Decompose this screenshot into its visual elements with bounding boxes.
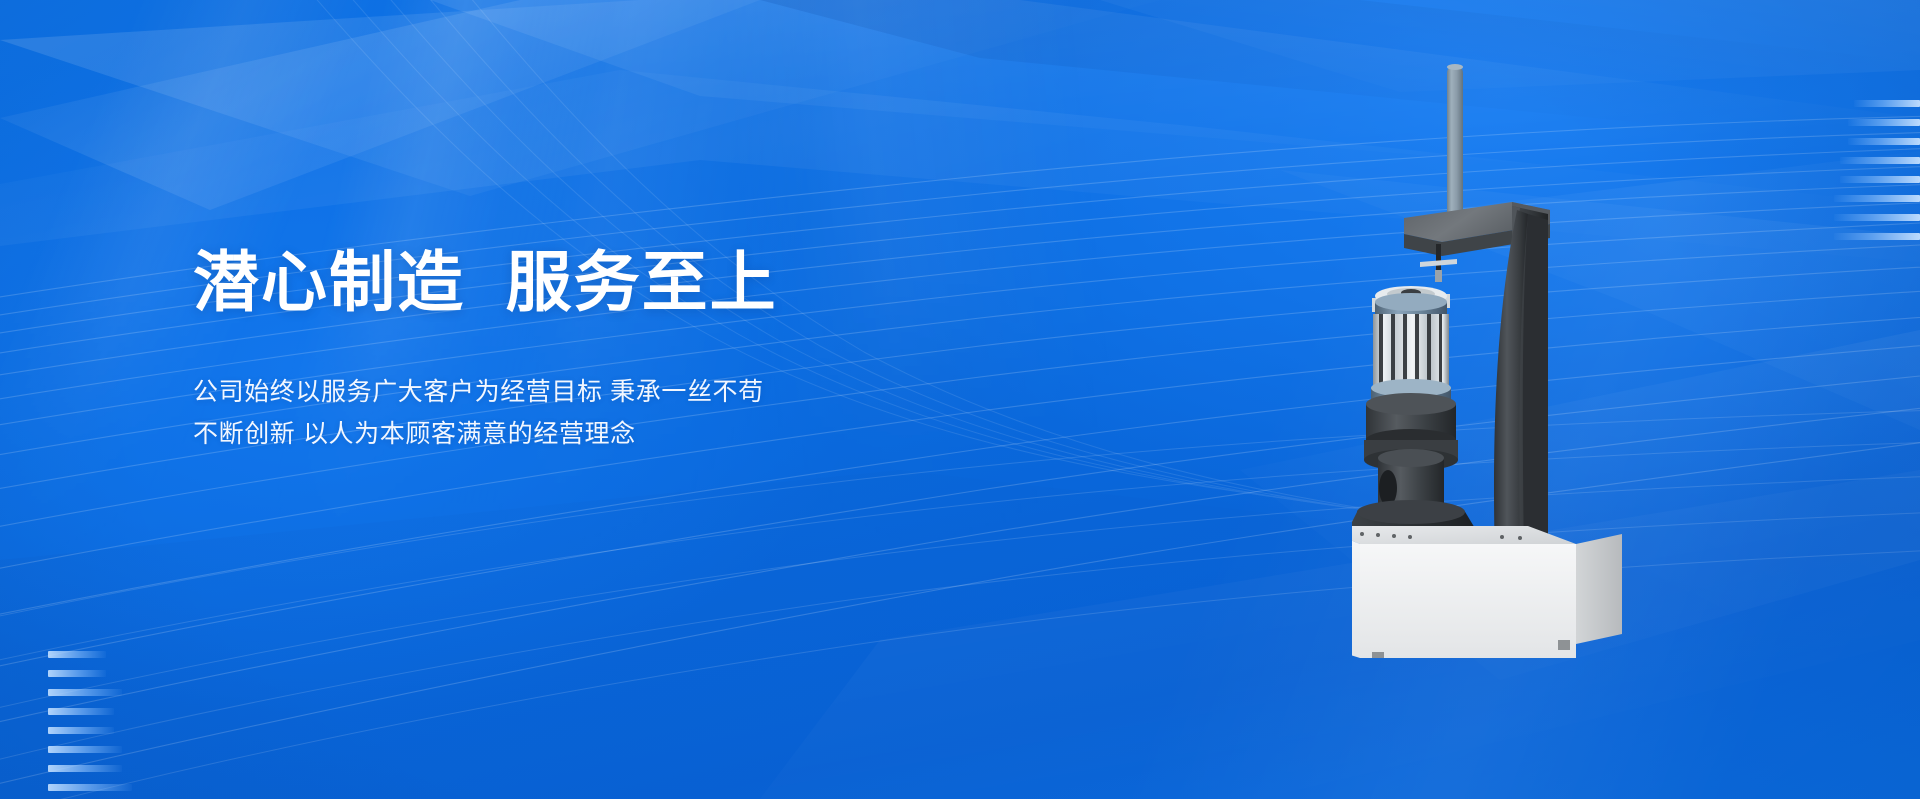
decor-bar [48,670,106,677]
rotor-assembly-icon [1352,286,1476,530]
decor-bar [1840,176,1920,183]
decor-bar [48,651,106,658]
machine-illustration [1352,48,1652,658]
decor-bars-right [1830,100,1920,240]
decor-bars-left [48,651,136,791]
decor-bar [48,708,114,715]
cabinet-pedestal-icon [1352,526,1622,658]
decor-bar [1840,157,1920,164]
decor-bar [1848,138,1920,145]
decor-bar [48,784,132,791]
hero-subtitle: 公司始终以服务广大客户为经营目标 秉承一丝不苟 不断创新 以人为本顾客满意的经营… [193,371,953,455]
hero-subtitle-line-2: 不断创新 以人为本顾客满意的经营理念 [193,413,953,455]
hero-copy: 潜心制造 服务至上 公司始终以服务广大客户为经营目标 秉承一丝不苟 不断创新 以… [193,249,953,455]
column-post-icon [1447,64,1463,221]
decor-bar [1834,214,1920,221]
decor-bar [1834,233,1920,240]
decor-bar [1854,100,1920,107]
decor-bar [48,727,114,734]
decor-bar [1834,195,1920,202]
decor-bar [48,746,122,753]
decor-bar [1848,119,1920,126]
hero-headline: 潜心制造 服务至上 [193,249,953,315]
decor-bar [48,765,122,772]
support-column-icon [1488,206,1556,562]
decor-bar [48,689,122,696]
hero-subtitle-line-1: 公司始终以服务广大客户为经营目标 秉承一丝不苟 [193,371,953,413]
hero-banner: 潜心制造 服务至上 公司始终以服务广大客户为经营目标 秉承一丝不苟 不断创新 以… [0,0,1920,799]
